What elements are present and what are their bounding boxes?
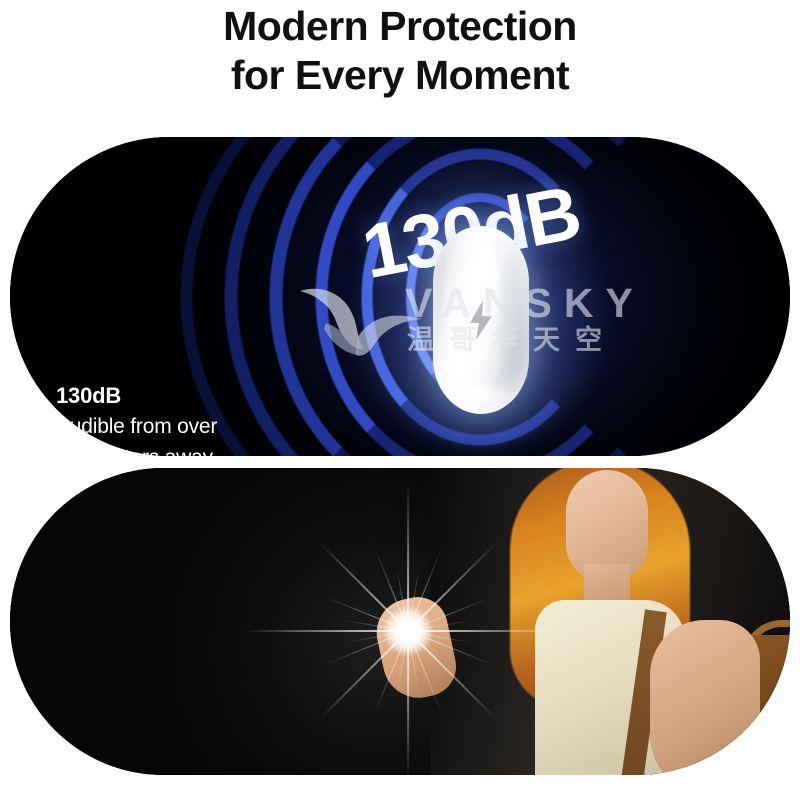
woman-photo xyxy=(480,468,770,775)
personal-alarm-device xyxy=(433,226,529,414)
feature-panel-audio: 130dB 130dB Audible from over 100 meters… xyxy=(10,137,790,456)
caption-audio-line-2: 100 meters away. xyxy=(56,442,217,456)
feature-panel-strobe: Strobe Light Continuous flashing for ove… xyxy=(10,468,790,775)
strobe-flash-core xyxy=(385,608,431,654)
page-title-line-2: for Every Moment xyxy=(0,51,800,100)
woman-arm xyxy=(650,620,760,775)
caption-audio: 130dB Audible from over 100 meters away. xyxy=(56,381,217,456)
strobe-light-illustration xyxy=(10,468,790,775)
page-title: Modern Protection for Every Moment xyxy=(0,0,800,100)
page-title-line-1: Modern Protection xyxy=(0,2,800,51)
caption-audio-line-1: Audible from over xyxy=(56,411,217,442)
caption-audio-body: Audible from over 100 meters away. xyxy=(56,411,217,456)
lightning-bolt-icon xyxy=(468,300,494,340)
caption-audio-title: 130dB xyxy=(56,381,217,411)
